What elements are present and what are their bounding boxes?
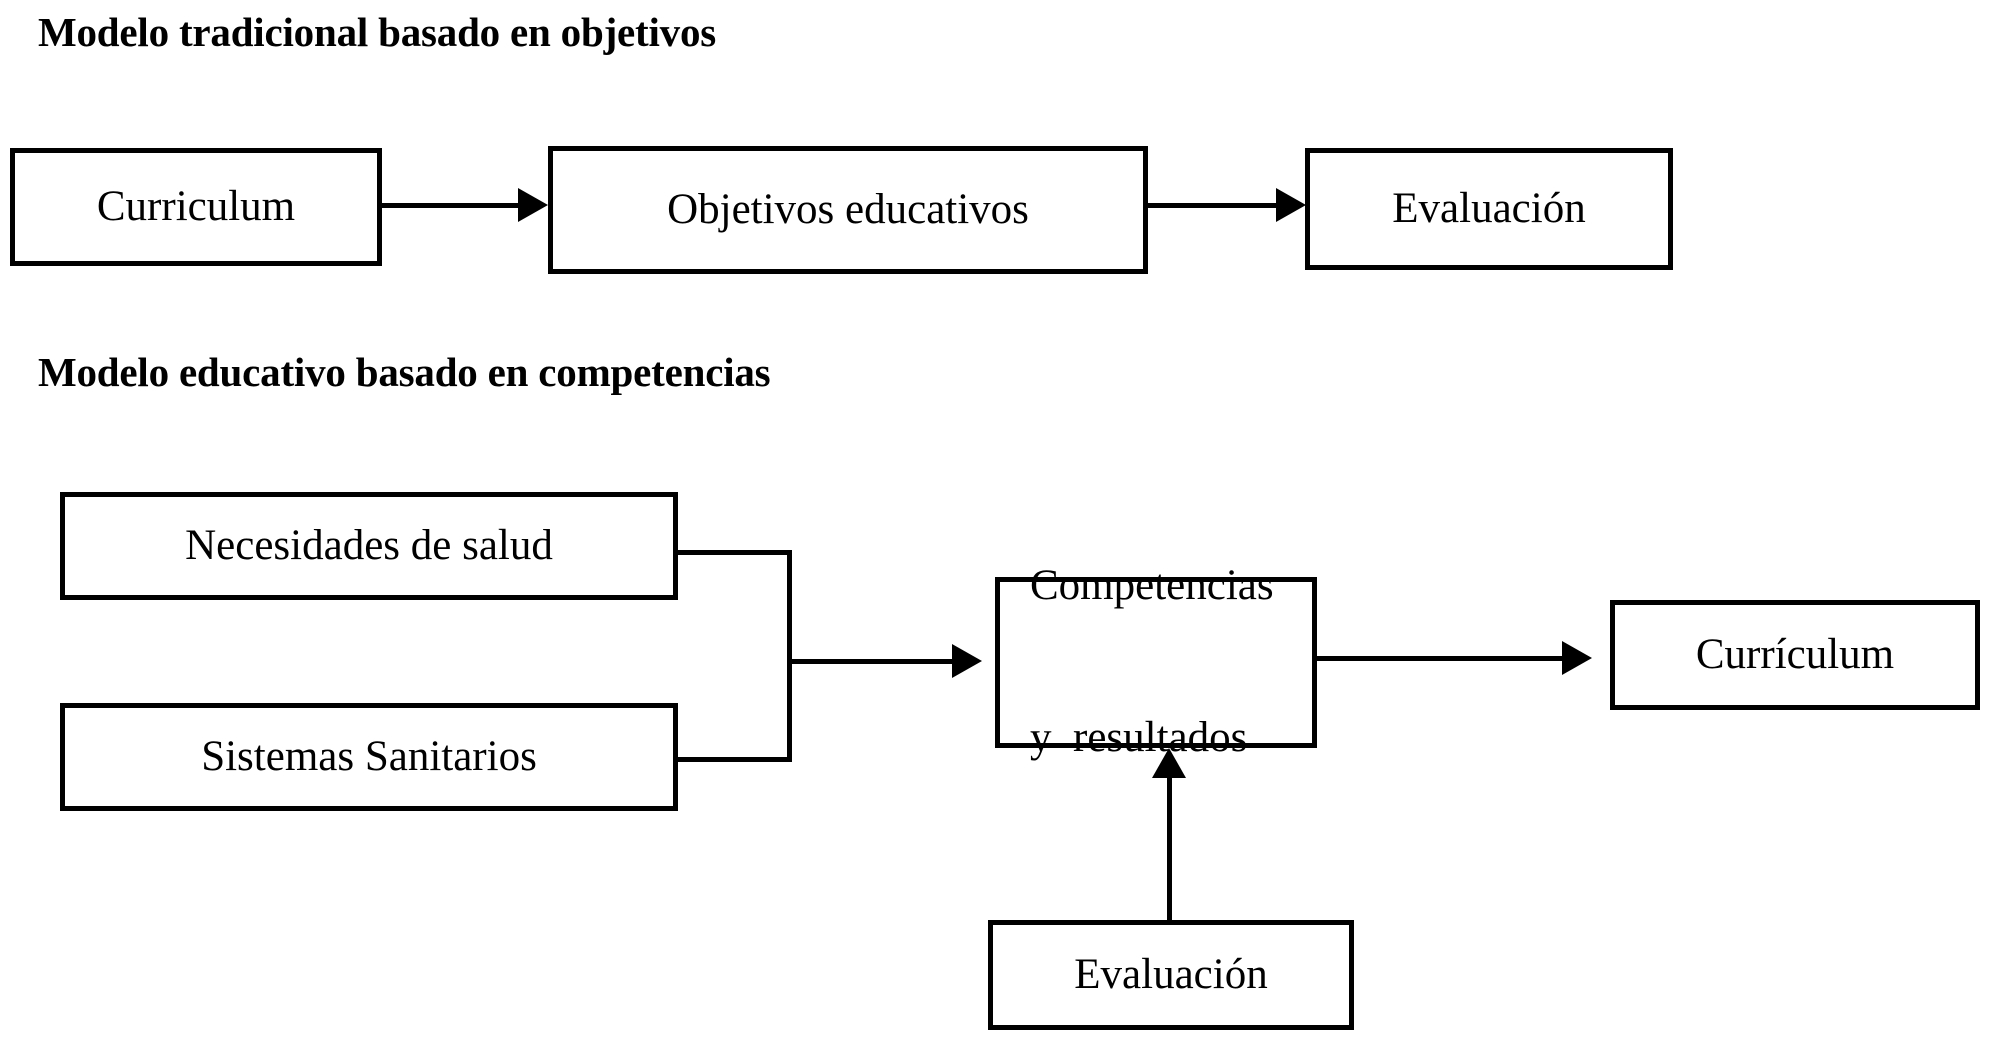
node-evaluacion-bottom-label: Evaluación [1074,950,1267,1001]
edge-merge-spine-line [787,550,792,762]
edge-evaluacion-to-competencias-arrowhead-icon [1152,748,1186,778]
node-sistemas-sanitarios-label: Sistemas Sanitarios [201,732,537,783]
node-curriculum-label: Curriculum [97,182,295,233]
edge-competencias-to-curriculum-arrowhead-icon [1562,641,1592,675]
node-curriculum-final-label: Currículum [1696,630,1894,681]
node-competencias-y-resultados: Competencias y resultados [995,577,1317,748]
edge-objetivos-to-evaluacion-arrowhead-icon [1276,188,1306,222]
edge-objetivos-to-evaluacion-line [1148,203,1288,208]
edge-evaluacion-to-competencias-line [1167,766,1172,922]
section-title-traditional: Modelo tradicional basado en objetivos [38,8,716,56]
edge-merge-to-competencias-line [787,659,962,664]
node-necesidades-de-salud-label: Necesidades de salud [185,521,553,572]
diagram-canvas: Modelo tradicional basado en objetivos C… [0,0,1993,1048]
node-curriculum-final: Currículum [1610,600,1980,710]
edge-merge-to-competencias-arrowhead-icon [952,644,982,678]
edge-sistemas-branch-line [674,757,792,762]
section-title-competency: Modelo educativo basado en competencias [38,348,770,396]
node-competencias-y-resultados-text: Competencias y resultados [1030,460,1274,866]
node-competencias-y-resultados-line1: Competencias [1030,561,1274,612]
edge-curriculum-to-objetivos-arrowhead-icon [518,188,548,222]
node-necesidades-de-salud: Necesidades de salud [60,492,678,600]
node-evaluacion-top-label: Evaluación [1392,184,1585,235]
node-evaluacion-bottom: Evaluación [988,920,1354,1030]
node-objetivos-educativos: Objetivos educativos [548,146,1148,274]
edge-curriculum-to-objetivos-line [382,203,527,208]
edge-competencias-to-curriculum-line [1317,656,1572,661]
node-sistemas-sanitarios: Sistemas Sanitarios [60,703,678,811]
node-curriculum: Curriculum [10,148,382,266]
node-objetivos-educativos-label: Objetivos educativos [667,185,1029,236]
edge-necesidades-branch-line [674,550,792,555]
node-evaluacion-top: Evaluación [1305,148,1673,270]
